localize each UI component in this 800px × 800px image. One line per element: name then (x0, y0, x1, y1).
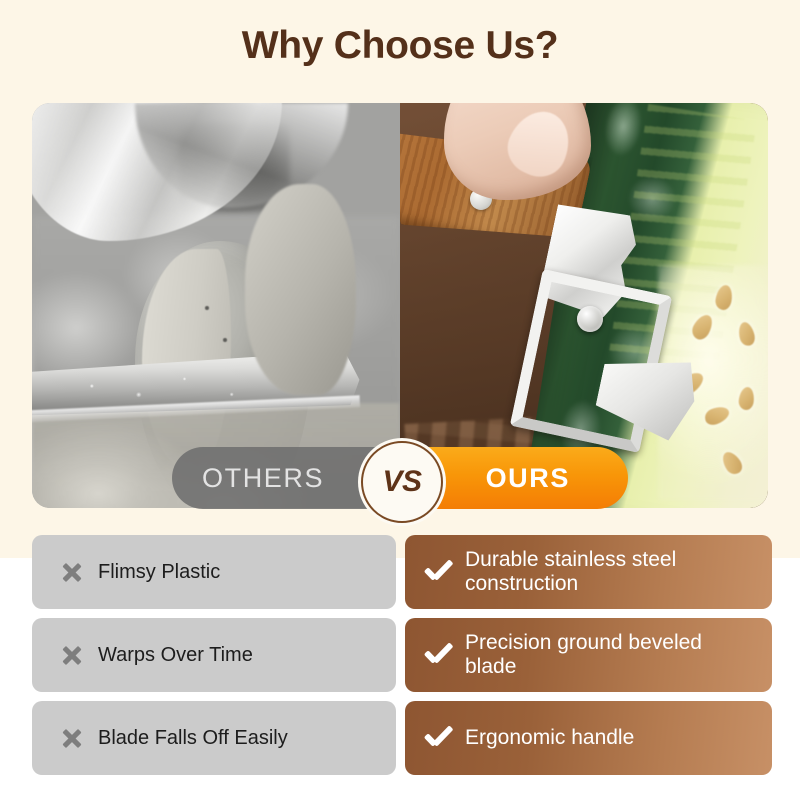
check-icon (421, 560, 455, 584)
ours-feature-label: Precision ground beveled blade (465, 631, 755, 680)
x-icon (54, 645, 88, 665)
others-feature-card: Warps Over Time (32, 618, 396, 692)
vs-badge: VS (361, 441, 443, 523)
others-label: OTHERS (202, 463, 324, 494)
photo-others-thumb (245, 184, 355, 395)
x-icon (54, 562, 88, 582)
others-feature-label: Blade Falls Off Easily (98, 726, 288, 750)
comparison-row: Flimsy Plastic Durable stainless steel c… (32, 535, 772, 609)
ours-feature-card: Precision ground beveled blade (405, 618, 772, 692)
ours-label: OURS (486, 463, 570, 494)
others-feature-card: Blade Falls Off Easily (32, 701, 396, 775)
others-feature-card: Flimsy Plastic (32, 535, 396, 609)
check-icon (421, 726, 455, 750)
ours-feature-card: Ergonomic handle (405, 701, 772, 775)
ours-feature-label: Durable stainless steel construction (465, 548, 755, 597)
comparison-row: Warps Over Time Precision ground beveled… (32, 618, 772, 692)
comparison-row: Blade Falls Off Easily Ergonomic handle (32, 701, 772, 775)
vs-comparison-bar: OTHERS OURS VS (0, 441, 800, 519)
ours-feature-label: Ergonomic handle (465, 726, 634, 750)
others-feature-label: Flimsy Plastic (98, 560, 220, 584)
page-title: Why Choose Us? (0, 24, 800, 68)
ours-feature-card: Durable stainless steel construction (405, 535, 772, 609)
x-icon (54, 728, 88, 748)
others-feature-label: Warps Over Time (98, 643, 253, 667)
photo-others-potato-speck (205, 306, 209, 310)
photo-ours-blade-pivot (577, 306, 603, 332)
comparison-rows: Flimsy Plastic Durable stainless steel c… (32, 535, 772, 784)
vs-label: VS (382, 465, 421, 499)
check-icon (421, 643, 455, 667)
infographic-page: Why Choose Us? (0, 0, 800, 800)
